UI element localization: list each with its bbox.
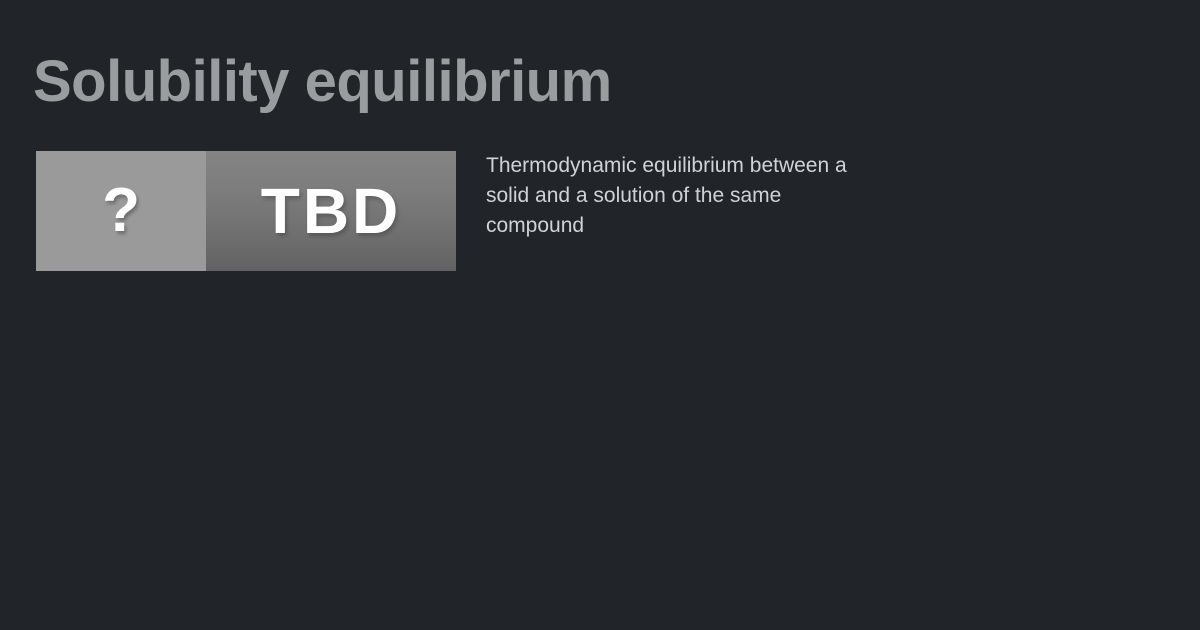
page-root: Solubility equilibrium ? TBD Thermodynam… (0, 0, 1200, 630)
content-row: ? TBD Thermodynamic equilibrium between … (36, 151, 1166, 271)
question-mark-icon: ? (102, 180, 140, 242)
description-text: Thermodynamic equilibrium between a soli… (486, 151, 866, 241)
placeholder-thumbnail[interactable]: ? TBD (36, 151, 456, 271)
thumbnail-right-panel: TBD (206, 151, 456, 271)
page-title: Solubility equilibrium (33, 47, 612, 117)
thumbnail-tbd-label: TBD (261, 179, 402, 243)
thumbnail-left-panel: ? (36, 151, 206, 271)
